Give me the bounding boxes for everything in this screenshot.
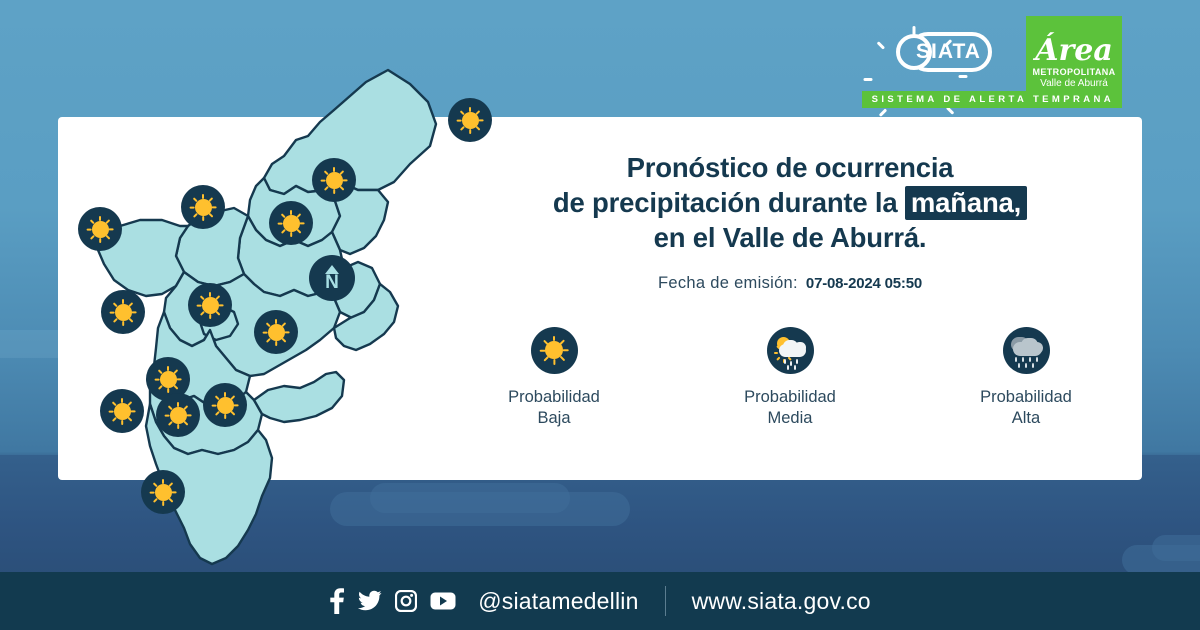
station-pin-sabaneta bbox=[156, 393, 200, 437]
station-pin-san-pedro bbox=[181, 185, 225, 229]
compass-north-icon: N bbox=[309, 255, 355, 301]
station-pin-la-estrella bbox=[100, 389, 144, 433]
station-pin-caldas bbox=[141, 470, 185, 514]
legend-label-alta: Probabilidad Alta bbox=[980, 387, 1072, 431]
area-line2: Valle de Aburrá bbox=[1040, 78, 1108, 90]
legend-label-media: Probabilidad Media bbox=[744, 387, 836, 431]
legend-label-baja: Probabilidad Baja bbox=[508, 387, 600, 431]
station-pin-east bbox=[254, 310, 298, 354]
social-icons bbox=[329, 588, 456, 614]
title-line-1: Pronóstico de ocurrencia bbox=[470, 150, 1110, 185]
siata-tagline: SISTEMA DE ALERTA TEMPRANA bbox=[862, 91, 1122, 108]
title-line-2-text: de precipitación durante la bbox=[553, 187, 898, 218]
website-url[interactable]: www.siata.gov.co bbox=[692, 588, 871, 615]
valle-de-aburra-map: N bbox=[58, 40, 438, 570]
footer-divider bbox=[665, 586, 666, 616]
station-pin-west bbox=[78, 207, 122, 251]
title-line-3: en el Valle de Aburrá. bbox=[470, 220, 1110, 255]
legend-label-alta-line1: Probabilidad bbox=[980, 387, 1072, 409]
station-pin-medellin-west bbox=[101, 290, 145, 334]
logo-group: SIATA Área METROPOLITANA Valle de Aburrá bbox=[886, 16, 1122, 94]
legend-item-media: Probabilidad Media bbox=[725, 327, 855, 431]
cloud-heavy-rain-icon bbox=[1003, 327, 1050, 374]
probability-legend: Probabilidad Baja bbox=[470, 327, 1110, 431]
facebook-icon[interactable] bbox=[329, 588, 345, 614]
legend-item-baja: Probabilidad Baja bbox=[489, 327, 619, 431]
station-pin-bello bbox=[188, 283, 232, 327]
area-line1: METROPOLITANA bbox=[1032, 68, 1115, 78]
footer-bar: @siatamedellin www.siata.gov.co bbox=[0, 572, 1200, 630]
legend-label-baja-line1: Probabilidad bbox=[508, 387, 600, 409]
emission-date-label: Fecha de emisión: bbox=[658, 274, 798, 293]
instagram-icon[interactable] bbox=[395, 590, 417, 612]
sun-cloud-rain-icon bbox=[767, 327, 814, 374]
infographic-canvas: SIATA Área METROPOLITANA Valle de Aburrá… bbox=[0, 0, 1200, 630]
station-pin-girardota bbox=[312, 158, 356, 202]
twitter-icon[interactable] bbox=[358, 590, 382, 612]
siata-logo: SIATA bbox=[886, 16, 1016, 88]
area-script-text: Área bbox=[1035, 36, 1113, 66]
siata-wordmark: SIATA bbox=[916, 40, 981, 64]
legend-label-media-line2: Media bbox=[744, 408, 836, 430]
legend-item-alta: Probabilidad Alta bbox=[961, 327, 1091, 431]
page-title: Pronóstico de ocurrencia de precipitació… bbox=[470, 150, 1110, 256]
emission-date: Fecha de emisión: 07-08-2024 05:50 bbox=[470, 274, 1110, 293]
social-handle[interactable]: @siatamedellin bbox=[478, 588, 638, 615]
decorative-cloud-right-bump bbox=[1152, 535, 1200, 561]
station-pin-barbosa bbox=[448, 98, 492, 142]
legend-label-alta-line2: Alta bbox=[980, 408, 1072, 430]
legend-label-media-line1: Probabilidad bbox=[744, 387, 836, 409]
sun-icon bbox=[531, 327, 578, 374]
emission-date-value: 07-08-2024 05:50 bbox=[806, 275, 922, 292]
title-highlight-periodo: mañana, bbox=[905, 186, 1027, 220]
station-pin-copacabana bbox=[269, 201, 313, 245]
area-metropolitana-logo: Área METROPOLITANA Valle de Aburrá bbox=[1026, 16, 1122, 94]
compass-label: N bbox=[325, 275, 339, 291]
legend-label-baja-line2: Baja bbox=[508, 408, 600, 430]
youtube-icon[interactable] bbox=[430, 591, 456, 611]
station-pin-envigado bbox=[203, 383, 247, 427]
title-line-2: de precipitación durante la mañana, bbox=[470, 185, 1110, 220]
forecast-content: Pronóstico de ocurrencia de precipitació… bbox=[470, 150, 1110, 430]
